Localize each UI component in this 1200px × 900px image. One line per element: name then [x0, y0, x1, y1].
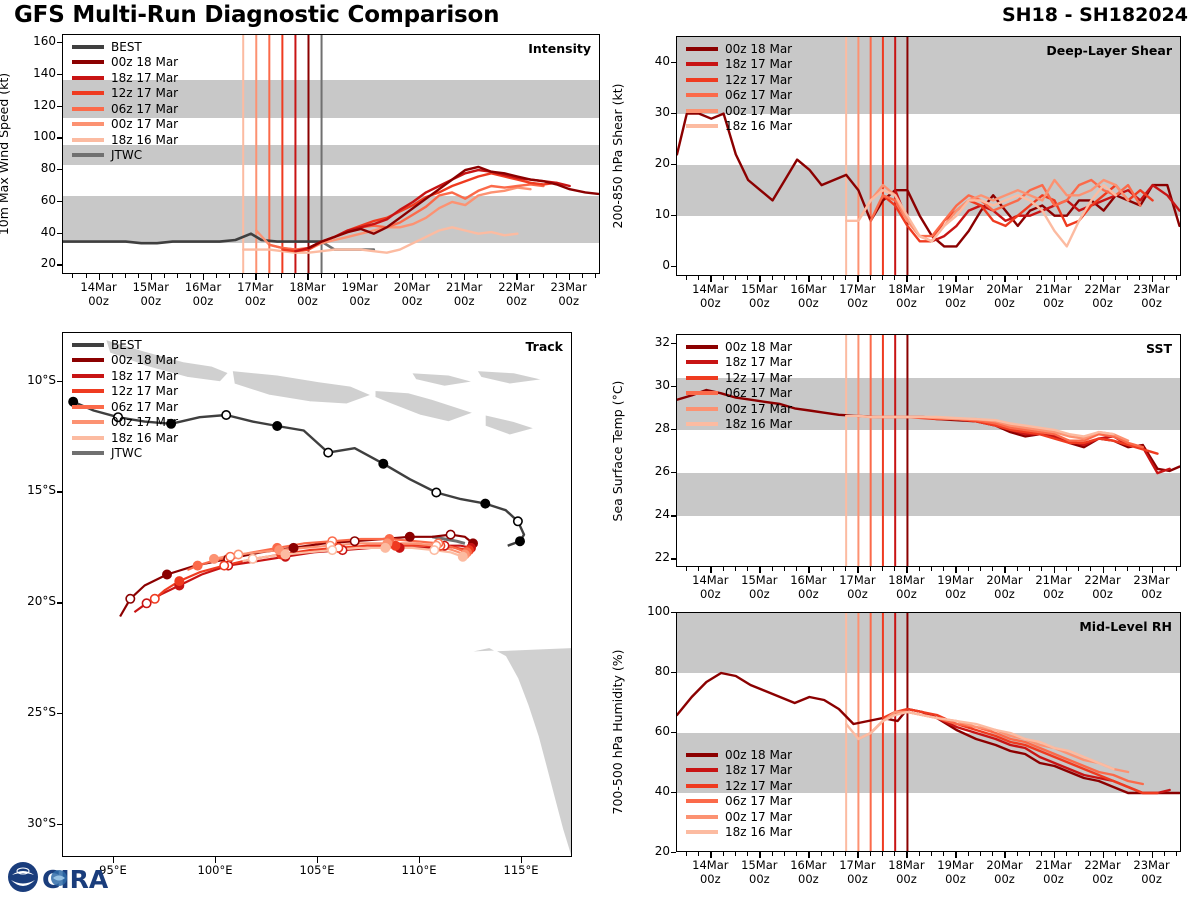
- x-minor-tick: [931, 567, 932, 571]
- x-minor-tick: [1115, 567, 1116, 571]
- x-tick-hour: 00z: [140, 294, 161, 308]
- x-minor-tick: [772, 276, 773, 280]
- y-axis-label-rh: 700-500 hPa Humidity (%): [610, 649, 625, 814]
- y-tick-mark: [671, 672, 676, 673]
- track-marker: [459, 553, 467, 561]
- series-line-12z-17-mar: [883, 185, 1153, 241]
- legend-item: 00z 17 Mar: [72, 117, 178, 133]
- x-tick-day: 15Mar: [741, 282, 777, 296]
- y-tick-label: 0: [632, 258, 670, 272]
- x-tick-mark: [1054, 567, 1055, 573]
- y-tick-mark: [671, 612, 676, 613]
- x-tick-label: 20Mar00z: [968, 858, 1040, 886]
- track-marker: [281, 550, 289, 558]
- legend-swatch: [72, 138, 104, 142]
- x-tick-mark: [1004, 852, 1005, 858]
- x-tick-day: 17Mar: [839, 282, 875, 296]
- x-minor-tick: [1041, 852, 1042, 856]
- x-tick-mark: [857, 852, 858, 858]
- x-tick-hour: 00z: [454, 294, 475, 308]
- legend-item: JTWC: [72, 148, 178, 164]
- x-tick-hour: 00z: [1043, 872, 1064, 886]
- series-line-06z-17-mar: [871, 180, 1141, 236]
- x-tick-day: 21Mar: [1035, 282, 1071, 296]
- track-marker: [273, 544, 281, 552]
- lon-tick-mark: [215, 857, 216, 863]
- x-tick-hour: 00z: [1092, 296, 1113, 310]
- legend-swatch: [686, 784, 718, 788]
- y-tick-mark: [671, 343, 676, 344]
- x-tick-hour: 00z: [506, 294, 527, 308]
- x-tick-label: 18Mar00z: [870, 573, 942, 601]
- x-tick-label: 17Mar00z: [821, 858, 893, 886]
- x-minor-tick: [723, 276, 724, 280]
- x-tick-mark: [759, 567, 760, 573]
- x-tick-label: 23Mar00z: [1116, 282, 1188, 310]
- x-tick-label: 20Mar00z: [376, 280, 448, 308]
- x-tick-day: 23Mar: [1133, 282, 1169, 296]
- track-line-jtwc: [432, 537, 465, 544]
- x-minor-tick: [164, 274, 165, 278]
- legend-item: 18z 17 Mar: [72, 368, 178, 384]
- legend-swatch: [72, 91, 104, 95]
- x-minor-tick: [399, 274, 400, 278]
- series-line-00z-18-mar: [677, 673, 1180, 793]
- series-line-12z-17-mar: [282, 173, 556, 251]
- x-tick-hour: 00z: [558, 294, 579, 308]
- y-tick-label: 24: [632, 507, 670, 521]
- legend-shear: 00z 18 Mar18z 17 Mar12z 17 Mar06z 17 Mar…: [686, 41, 792, 134]
- legend-swatch: [72, 76, 104, 80]
- legend-label: 18z 17 Mar: [725, 763, 792, 777]
- x-tick-mark: [464, 274, 465, 280]
- x-minor-tick: [747, 276, 748, 280]
- series-line-18z-16-mar: [243, 227, 517, 252]
- x-tick-mark: [1054, 852, 1055, 858]
- track-marker: [383, 539, 391, 547]
- x-minor-tick: [1115, 276, 1116, 280]
- x-tick-day: 16Mar: [185, 280, 221, 294]
- lon-tick-mark: [521, 857, 522, 863]
- track-marker: [114, 413, 122, 421]
- track-marker: [440, 542, 448, 550]
- x-tick-day: 20Mar: [986, 858, 1022, 872]
- x-tick-hour: 00z: [1043, 296, 1064, 310]
- x-minor-tick: [334, 274, 335, 278]
- plot-area-sst: SST: [676, 334, 1181, 567]
- y-tick-mark: [671, 266, 676, 267]
- x-tick-label: 14Mar00z: [674, 573, 746, 601]
- x-tick-label: 16Mar00z: [167, 280, 239, 308]
- y-tick-label: 60: [18, 193, 56, 207]
- series-line-jtwc: [322, 242, 374, 250]
- x-minor-tick: [894, 567, 895, 571]
- x-minor-tick: [112, 274, 113, 278]
- y-tick-mark: [671, 852, 676, 853]
- x-tick-mark: [710, 852, 711, 858]
- y-axis-label-shear: 200-850 hPa Shear (kt): [610, 84, 625, 229]
- track-marker: [222, 411, 230, 419]
- x-minor-tick: [1090, 852, 1091, 856]
- x-tick-hour: 00z: [88, 294, 109, 308]
- x-minor-tick: [919, 567, 920, 571]
- legend-label: 06z 17 Mar: [725, 88, 792, 102]
- x-tick-hour: 00z: [1141, 872, 1162, 886]
- x-minor-tick: [870, 567, 871, 571]
- y-tick-label: 28: [632, 421, 670, 435]
- x-minor-tick: [490, 274, 491, 278]
- x-tick-mark: [99, 274, 100, 280]
- legend-swatch: [72, 153, 104, 157]
- legend-label: 00z 17 Mar: [725, 104, 792, 118]
- x-minor-tick: [216, 274, 217, 278]
- x-minor-tick: [229, 274, 230, 278]
- legend-label: 00z 18 Mar: [725, 42, 792, 56]
- legend-swatch: [686, 815, 718, 819]
- plot-area-intensity: Intensity: [62, 34, 600, 274]
- x-minor-tick: [1164, 852, 1165, 856]
- series-canvas-sst: [677, 335, 1181, 567]
- track-marker: [224, 561, 232, 569]
- legend-rh: 00z 18 Mar18z 17 Mar12z 17 Mar06z 17 Mar…: [686, 747, 792, 840]
- series-line-18z-17-mar: [895, 709, 1169, 793]
- x-minor-tick: [1090, 567, 1091, 571]
- series-line-12z-17-mar: [883, 709, 1158, 793]
- track-marker: [334, 544, 342, 552]
- panel-sst: SST222426283032Sea Surface Temp (°C)14Ma…: [0, 0, 1200, 900]
- x-tick-mark: [1103, 276, 1104, 282]
- x-tick-hour: 00z: [945, 296, 966, 310]
- lon-tick-mark: [419, 857, 420, 863]
- shaded-band: [63, 196, 599, 244]
- x-tick-label: 16Mar00z: [772, 858, 844, 886]
- x-tick-label: 14Mar00z: [674, 858, 746, 886]
- x-tick-mark: [1152, 567, 1153, 573]
- legend-item: 18z 17 Mar: [686, 57, 792, 73]
- legend-label: 12z 17 Mar: [725, 73, 792, 87]
- lat-tick-label: 30°S: [8, 816, 56, 830]
- x-minor-tick: [1139, 852, 1140, 856]
- x-tick-label: 17Mar00z: [821, 282, 893, 310]
- x-minor-tick: [1041, 567, 1042, 571]
- x-tick-mark: [255, 274, 256, 280]
- legend-label: 18z 17 Mar: [111, 71, 178, 85]
- legend-label: 06z 17 Mar: [725, 386, 792, 400]
- x-tick-hour: 00z: [994, 587, 1015, 601]
- land-java: [232, 371, 371, 404]
- plot-area-track: Track: [62, 332, 572, 857]
- y-tick-mark: [671, 164, 676, 165]
- y-tick-label: 60: [632, 724, 670, 738]
- legend-item: 18z 17 Mar: [686, 763, 792, 779]
- y-tick-mark: [671, 113, 676, 114]
- legend-label: 00z 18 Mar: [725, 340, 792, 354]
- y-tick-label: 100: [632, 604, 670, 618]
- x-tick-day: 18Mar: [888, 573, 924, 587]
- lat-tick-mark: [57, 824, 62, 825]
- x-minor-tick: [821, 276, 822, 280]
- track-marker: [516, 537, 524, 545]
- x-tick-day: 22Mar: [1084, 858, 1120, 872]
- legend-sst: 00z 18 Mar18z 17 Mar12z 17 Mar06z 17 Mar…: [686, 339, 792, 432]
- lat-tick-mark: [57, 602, 62, 603]
- y-axis-label-sst: Sea Surface Temp (°C): [610, 380, 625, 521]
- y-tick-mark: [57, 42, 62, 43]
- x-tick-label: 22Mar00z: [1067, 282, 1139, 310]
- x-tick-hour: 00z: [700, 872, 721, 886]
- x-tick-mark: [1004, 276, 1005, 282]
- legend-item: 00z 18 Mar: [72, 353, 178, 369]
- legend-label: 18z 16 Mar: [725, 825, 792, 839]
- x-tick-hour: 00z: [749, 872, 770, 886]
- y-tick-mark: [57, 74, 62, 75]
- x-tick-hour: 00z: [245, 294, 266, 308]
- x-tick-day: 16Mar: [790, 858, 826, 872]
- x-tick-hour: 00z: [1092, 587, 1113, 601]
- x-tick-day: 15Mar: [741, 573, 777, 587]
- panel-rh: Mid-Level RH20406080100700-500 hPa Humid…: [0, 0, 1200, 900]
- legend-swatch: [72, 358, 104, 362]
- legend-swatch: [686, 407, 718, 411]
- legend-label: JTWC: [111, 446, 142, 460]
- legend-label: 06z 17 Mar: [111, 102, 178, 116]
- track-marker: [481, 499, 489, 507]
- x-tick-day: 14Mar: [692, 573, 728, 587]
- series-line-00z-17-mar: [256, 188, 530, 250]
- x-minor-tick: [968, 852, 969, 856]
- series-line-18z-17-mar: [895, 185, 1179, 241]
- y-tick-mark: [671, 472, 676, 473]
- x-minor-tick: [784, 276, 785, 280]
- track-marker: [193, 561, 201, 569]
- x-minor-tick: [1066, 276, 1067, 280]
- x-tick-day: 21Mar: [1035, 573, 1071, 587]
- x-tick-mark: [710, 276, 711, 282]
- x-tick-mark: [1152, 276, 1153, 282]
- x-tick-mark: [906, 852, 907, 858]
- track-marker: [467, 544, 475, 552]
- shaded-band: [677, 613, 1180, 673]
- x-tick-label: 23Mar00z: [1116, 858, 1188, 886]
- x-minor-tick: [919, 852, 920, 856]
- legend-item: BEST: [72, 39, 178, 55]
- x-tick-day: 21Mar: [446, 280, 482, 294]
- x-tick-mark: [955, 852, 956, 858]
- x-minor-tick: [931, 852, 932, 856]
- track-marker: [351, 537, 359, 545]
- y-tick-label: 22: [632, 550, 670, 564]
- x-tick-label: 21Mar00z: [1018, 573, 1090, 601]
- y-axis-label-intensity: 10m Max Wind Speed (kt): [0, 73, 11, 235]
- y-tick-label: 20: [632, 844, 670, 858]
- track-marker: [406, 533, 414, 541]
- track-marker: [273, 422, 281, 430]
- x-minor-tick: [772, 852, 773, 856]
- lon-tick-label: 115°E: [485, 863, 557, 877]
- x-tick-day: 17Mar: [839, 573, 875, 587]
- track-line-00z-18-mar: [120, 535, 473, 617]
- series-line-00z-18-mar: [677, 114, 1180, 247]
- x-tick-day: 20Mar: [986, 282, 1022, 296]
- track-marker: [385, 535, 393, 543]
- x-minor-tick: [698, 852, 699, 856]
- x-minor-tick: [1127, 852, 1128, 856]
- y-tick-label: 20: [18, 256, 56, 270]
- x-minor-tick: [138, 274, 139, 278]
- legend-swatch: [72, 45, 104, 49]
- y-tick-label: 80: [18, 161, 56, 175]
- legend-swatch: [686, 109, 718, 113]
- x-minor-tick: [125, 274, 126, 278]
- legend-swatch: [686, 376, 718, 380]
- legend-swatch: [686, 62, 718, 66]
- x-tick-day: 20Mar: [986, 573, 1022, 587]
- y-tick-mark: [57, 106, 62, 107]
- legend-item: 00z 18 Mar: [686, 41, 792, 57]
- land-kalimantan-edge: [412, 373, 473, 386]
- track-marker: [381, 544, 389, 552]
- x-minor-tick: [723, 567, 724, 571]
- series-line-18z-17-mar: [895, 417, 1169, 473]
- x-tick-label: 17Mar00z: [821, 573, 893, 601]
- shaded-band: [63, 80, 599, 118]
- x-tick-mark: [906, 276, 907, 282]
- cira-logo: CIRA: [42, 865, 109, 894]
- x-minor-tick: [1078, 276, 1079, 280]
- x-minor-tick: [1139, 567, 1140, 571]
- x-tick-mark: [307, 274, 308, 280]
- x-tick-day: 18Mar: [888, 858, 924, 872]
- shaded-band: [677, 165, 1180, 216]
- x-tick-label: 19Mar00z: [919, 282, 991, 310]
- legend-label: 18z 16 Mar: [111, 133, 178, 147]
- legend-swatch: [686, 768, 718, 772]
- track-line-12z-17-mar: [155, 546, 469, 599]
- x-minor-tick: [1017, 852, 1018, 856]
- x-tick-label: 21Mar00z: [1018, 282, 1090, 310]
- track-marker: [430, 546, 438, 554]
- x-minor-tick: [386, 274, 387, 278]
- series-line-best: [63, 234, 322, 244]
- x-minor-tick: [1139, 276, 1140, 280]
- x-tick-mark: [955, 276, 956, 282]
- storm-id-label: SH18 - SH182024: [1002, 4, 1188, 26]
- legend-item: 00z 18 Mar: [686, 747, 792, 763]
- legend-swatch: [686, 830, 718, 834]
- x-minor-tick: [268, 274, 269, 278]
- x-minor-tick: [821, 852, 822, 856]
- x-tick-day: 18Mar: [888, 282, 924, 296]
- series-line-00z-17-mar: [858, 416, 1128, 441]
- x-minor-tick: [1017, 276, 1018, 280]
- x-tick-hour: 00z: [847, 872, 868, 886]
- x-tick-hour: 00z: [700, 296, 721, 310]
- x-tick-mark: [1004, 567, 1005, 573]
- y-tick-label: 32: [632, 335, 670, 349]
- x-tick-hour: 00z: [798, 296, 819, 310]
- legend-swatch: [72, 389, 104, 393]
- legend-item: 18z 17 Mar: [72, 70, 178, 86]
- x-minor-tick: [1164, 567, 1165, 571]
- track-marker: [234, 550, 242, 558]
- track-marker: [175, 577, 183, 585]
- y-tick-label: 140: [18, 66, 56, 80]
- land-sumatra: [106, 340, 228, 382]
- x-minor-tick: [968, 567, 969, 571]
- x-tick-hour: 00z: [896, 587, 917, 601]
- x-tick-day: 14Mar: [692, 282, 728, 296]
- x-tick-hour: 00z: [700, 587, 721, 601]
- x-minor-tick: [894, 852, 895, 856]
- legend-label: BEST: [111, 338, 142, 352]
- x-tick-label: 15Mar00z: [723, 282, 795, 310]
- x-tick-label: 19Mar00z: [919, 573, 991, 601]
- legend-item: 18z 16 Mar: [686, 119, 792, 135]
- legend-label: 18z 17 Mar: [725, 355, 792, 369]
- y-tick-label: 20: [632, 156, 670, 170]
- x-tick-label: 15Mar00z: [723, 573, 795, 601]
- x-minor-tick: [833, 276, 834, 280]
- y-tick-label: 30: [632, 378, 670, 392]
- track-marker: [210, 555, 218, 563]
- x-tick-label: 22Mar00z: [480, 280, 552, 308]
- panel-track: Track10°S15°S20°S25°S30°S95°E100°E105°E1…: [0, 0, 1200, 900]
- x-minor-tick: [698, 567, 699, 571]
- track-marker: [69, 398, 77, 406]
- x-tick-mark: [955, 567, 956, 573]
- legend-item: 00z 18 Mar: [72, 55, 178, 71]
- track-marker: [275, 546, 283, 554]
- x-minor-tick: [1041, 276, 1042, 280]
- land-sumba: [485, 415, 534, 435]
- shaded-band: [63, 145, 599, 166]
- series-line-00z-18-mar: [309, 167, 599, 248]
- x-minor-tick: [796, 276, 797, 280]
- series-line-18z-16-mar: [846, 416, 1113, 437]
- y-tick-label: 30: [632, 105, 670, 119]
- x-minor-tick: [1090, 276, 1091, 280]
- x-minor-tick: [425, 274, 426, 278]
- series-line-18z-16-mar: [846, 185, 1116, 246]
- y-tick-mark: [671, 215, 676, 216]
- track-map-canvas: [63, 333, 572, 857]
- track-marker: [514, 517, 522, 525]
- legend-item: 18z 16 Mar: [686, 417, 792, 433]
- legend-swatch: [72, 436, 104, 440]
- lon-tick-label: 105°E: [281, 863, 353, 877]
- lon-tick-label: 110°E: [383, 863, 455, 877]
- legend-item: BEST: [72, 337, 178, 353]
- x-tick-label: 15Mar00z: [115, 280, 187, 308]
- track-marker: [446, 530, 454, 538]
- x-tick-hour: 00z: [896, 872, 917, 886]
- x-minor-tick: [190, 274, 191, 278]
- y-tick-mark: [671, 558, 676, 559]
- panel-title-track: Track: [526, 339, 563, 354]
- legend-swatch: [72, 405, 104, 409]
- y-tick-mark: [671, 732, 676, 733]
- lat-tick-mark: [57, 491, 62, 492]
- x-tick-day: 22Mar: [1084, 282, 1120, 296]
- x-tick-day: 23Mar: [1133, 573, 1169, 587]
- x-minor-tick: [845, 852, 846, 856]
- land-australia: [469, 648, 572, 857]
- legend-swatch: [72, 122, 104, 126]
- x-tick-label: 22Mar00z: [1067, 858, 1139, 886]
- x-tick-mark: [569, 274, 570, 280]
- legend-label: 00z 17 Mar: [111, 117, 178, 131]
- y-tick-label: 10: [632, 207, 670, 221]
